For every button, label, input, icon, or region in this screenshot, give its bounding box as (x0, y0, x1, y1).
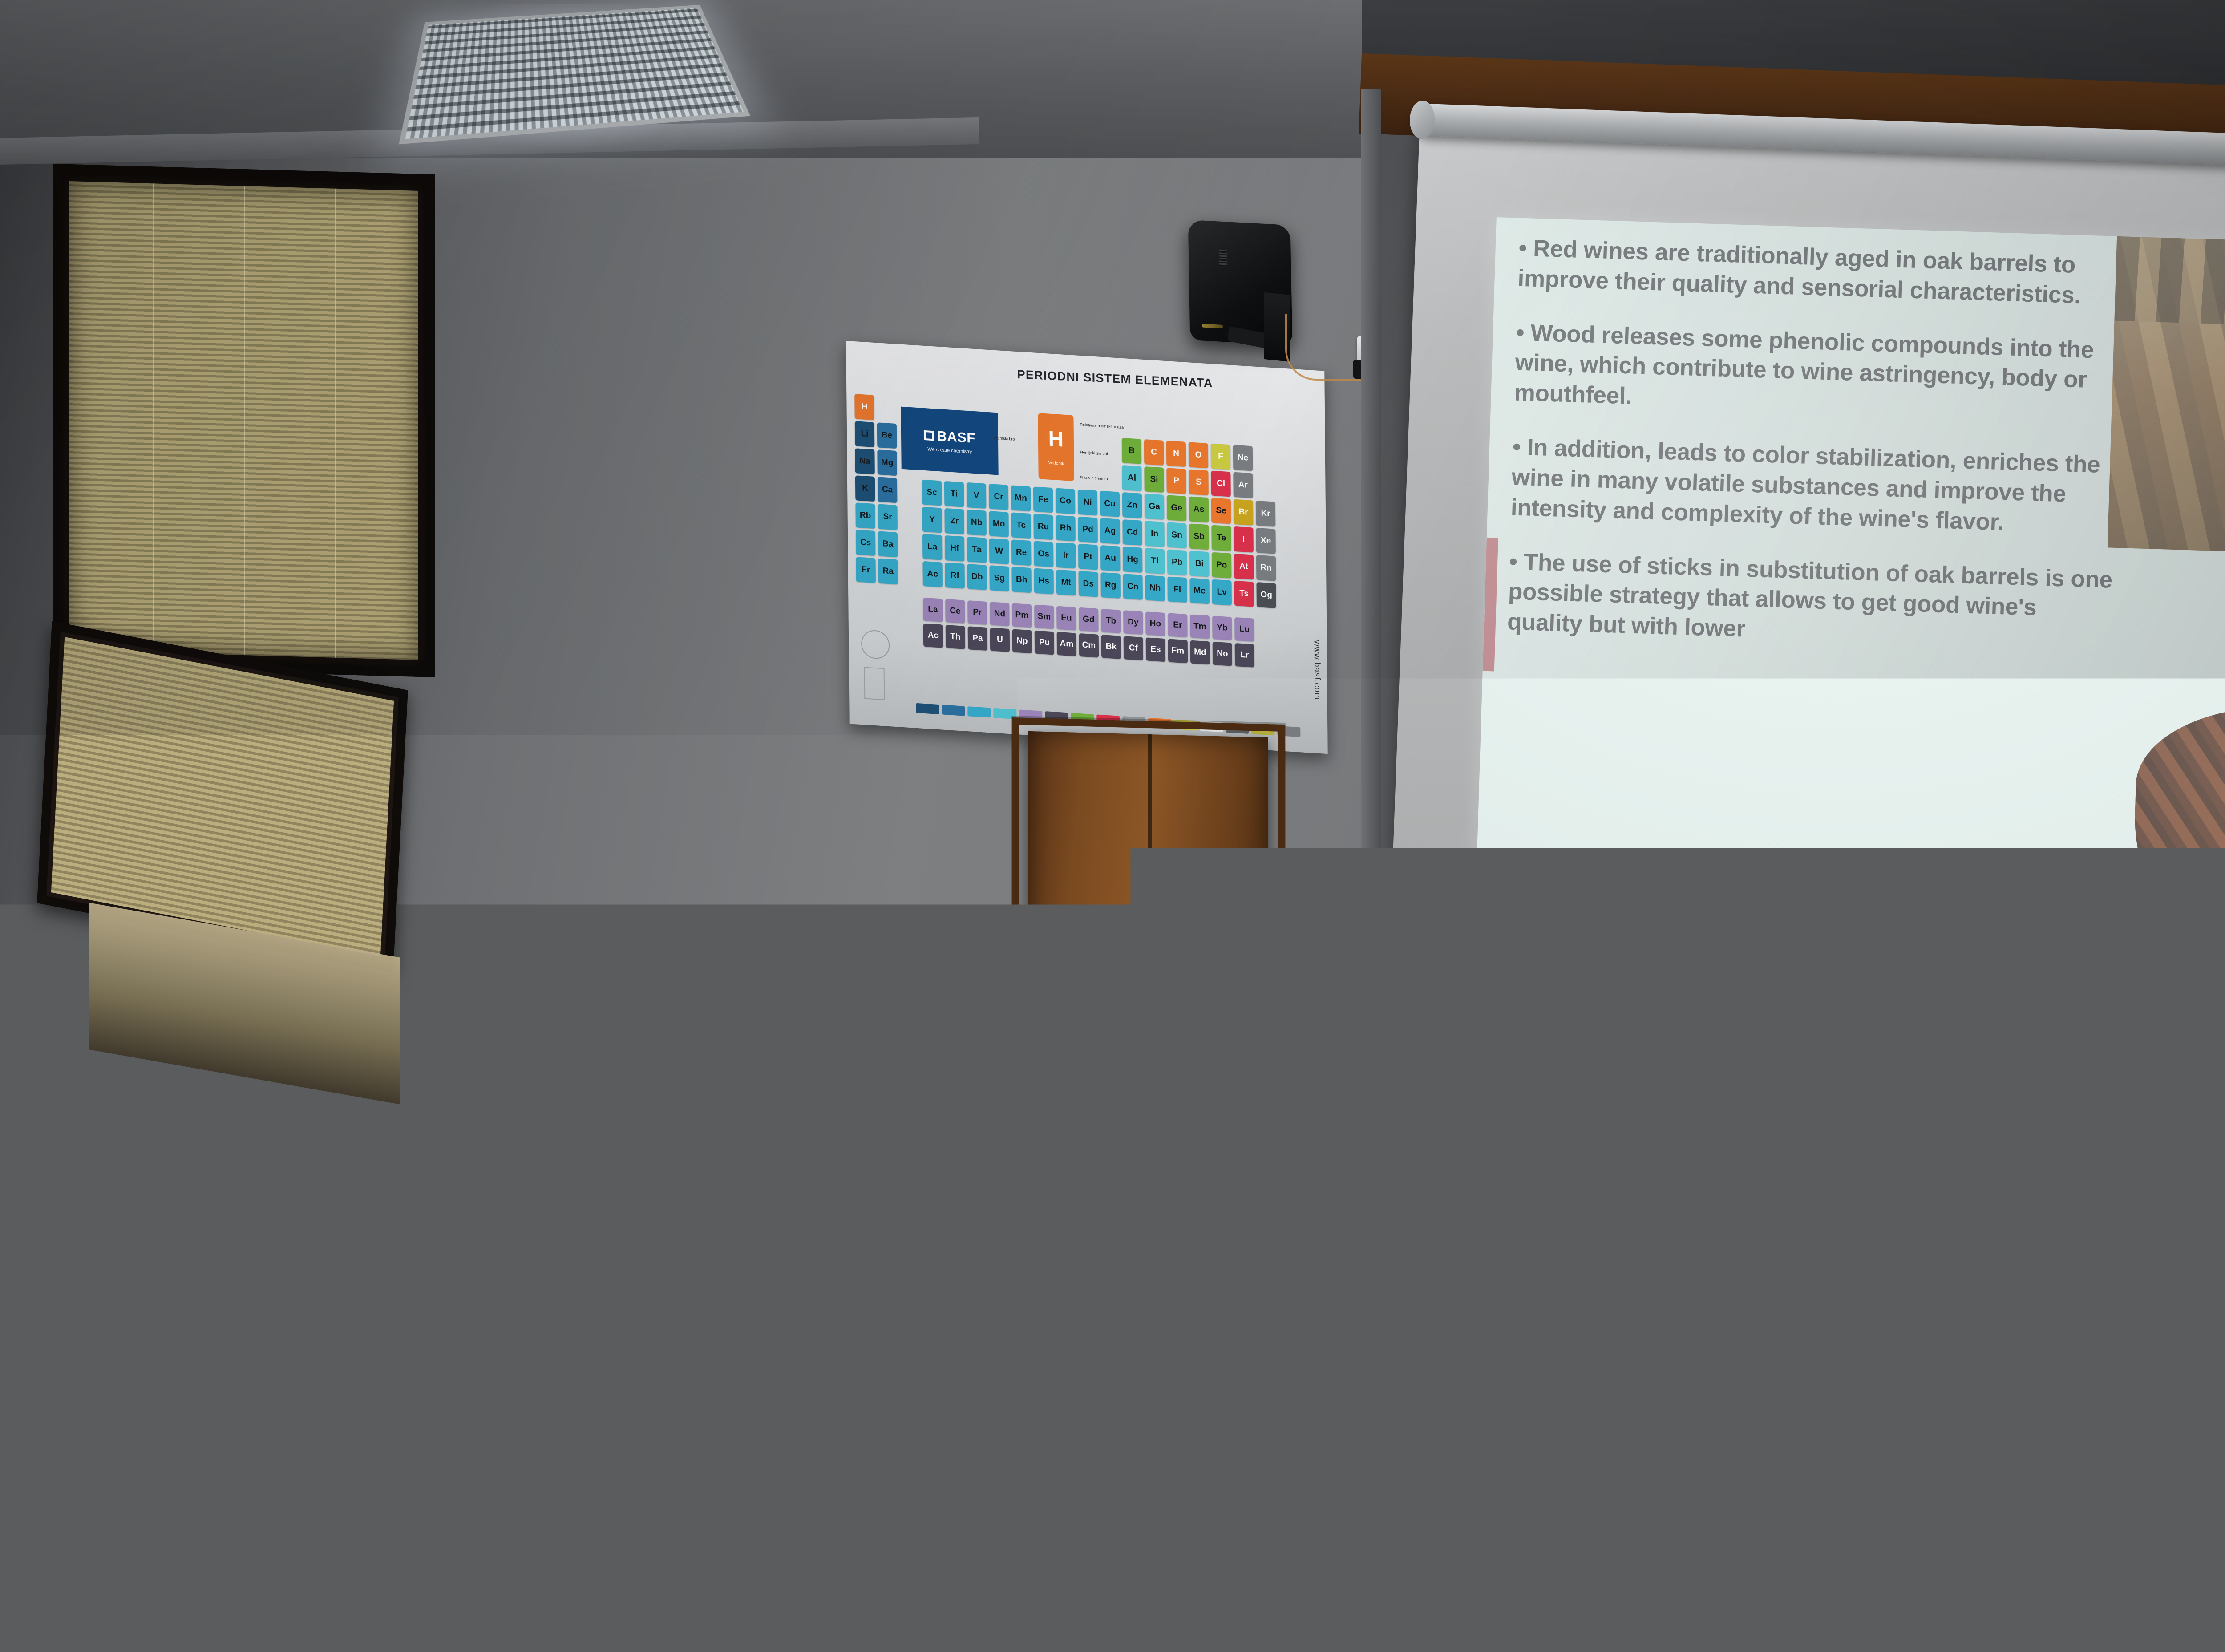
element-cell: U (990, 628, 1010, 652)
element-cell: Po (1212, 552, 1231, 579)
element-cell: Bh (1011, 567, 1031, 593)
element-cell: Es (1146, 638, 1165, 662)
bench-top (0, 1289, 529, 1652)
element-cell: Ac (922, 561, 942, 587)
element-cell: Sc (922, 480, 942, 506)
smoke-detector-icon (1366, 1024, 1387, 1037)
element-cell: Am (1057, 632, 1076, 656)
element-cell: Ga (1145, 494, 1164, 520)
element-cell: Pt (1078, 544, 1098, 570)
presenter-eye-left (613, 944, 623, 949)
element-cell: Sg (989, 565, 1009, 591)
element-cell: Cl (1211, 471, 1230, 497)
element-cell: Mn (1011, 485, 1031, 511)
element-cell: Zr (944, 508, 964, 534)
slide-bullet-list: • Red wines are traditionally aged in oa… (1506, 233, 2124, 680)
element-cell: Er (1168, 613, 1187, 638)
element-cell: Sm (1034, 605, 1054, 629)
element-cell: Hs (1034, 568, 1053, 595)
element-cell: Zn (1122, 492, 1142, 518)
conference-badge (606, 1170, 666, 1246)
plastic-cup[interactable] (2100, 1571, 2139, 1652)
presenter-leg-split (632, 1406, 637, 1607)
element-cell: Mc (1189, 578, 1209, 604)
element-cell: O (1189, 442, 1208, 468)
presentation-slide: • Red wines are traditionally aged in oa… (1474, 217, 2225, 976)
lecture-hall-scene: PERIODNI SISTEM ELEMENATA BASF We create… (0, 0, 2225, 1652)
plastic-cup[interactable] (2168, 1571, 2206, 1652)
element-cell: Mg (877, 449, 897, 476)
element-cell: Rg (1100, 572, 1120, 599)
presenter-shoe-left (553, 1590, 635, 1636)
badge-logo-mark (626, 1190, 649, 1203)
logo-chem-text: chem (1502, 919, 1546, 934)
eurofoodchem-logo: XXII euro F D chem (1490, 881, 1559, 940)
element-cell: Ce (945, 599, 965, 624)
element-cell: Te (1211, 525, 1231, 551)
logo-euro-text: euro (1509, 892, 1542, 908)
presenter (498, 903, 765, 1652)
conference-caption: XXII Congress, European Food Chemistry B… (1564, 908, 1739, 935)
element-cell: Ne (1233, 445, 1253, 471)
element-cell: Og (1256, 582, 1276, 608)
element-cell: Fm (1168, 639, 1188, 664)
presenter-shoe-right (630, 1576, 716, 1622)
placard-name: Jelena Mutić (1645, 1451, 1721, 1477)
poster-url: www.basf.com (1312, 640, 1322, 700)
element-cell: Kr (1256, 501, 1275, 527)
element-cell: Mt (1056, 570, 1076, 596)
element-cell: Ni (1078, 490, 1097, 516)
element-cell: Sr (878, 504, 897, 530)
element-cell: Pb (1167, 549, 1187, 575)
element-cell: Tc (1011, 512, 1031, 539)
badge-apple-icon (610, 1174, 635, 1192)
element-cell: Ra (878, 558, 898, 584)
logo-food-text: F D (1514, 908, 1535, 920)
element-cell: W (989, 538, 1009, 564)
element-cell: Ir (1056, 543, 1076, 569)
element-cell: Cm (1079, 633, 1099, 658)
element-cell: Se (1211, 498, 1231, 524)
light-louver-grid (405, 8, 744, 139)
element-cell: Pu (1035, 631, 1054, 655)
element-cell: Yb (1212, 616, 1232, 640)
element-cell: Lu (1234, 617, 1254, 642)
element-cell: F (1211, 444, 1230, 470)
element-cell: Ts (1234, 581, 1254, 607)
element-cell: Np (1012, 629, 1032, 654)
periodic-table-poster: PERIODNI SISTEM ELEMENATA BASF We create… (846, 341, 1327, 754)
presenter-eye-right (645, 944, 655, 949)
element-cell: Co (1056, 488, 1075, 514)
element-cell: Nd (990, 602, 1009, 627)
lecture-bench-left (0, 1211, 507, 1652)
chalkboard-sponge[interactable] (1393, 1142, 1417, 1192)
name-placard: Zuzana Ciesarova (1354, 1365, 1543, 1417)
element-cell: Ag (1100, 518, 1120, 544)
presenter-trousers (562, 1330, 716, 1606)
periodic-table-grid: HLiBeBCNOFNeNaMgAlSiPSClArKCaScTiVCrMnFe… (846, 390, 1327, 687)
element-cell: H (854, 394, 874, 420)
badge-bottom-bar (616, 1235, 658, 1241)
element-cell: Ar (1233, 472, 1253, 498)
element-cell: Dy (1123, 610, 1143, 635)
window-upper (53, 164, 435, 677)
element-cell: Ti (944, 481, 964, 507)
element-cell: Tb (1101, 609, 1121, 633)
element-cell: Th (946, 625, 965, 649)
element-cell: P (1166, 468, 1186, 494)
slide-bullet: • Wood releases some phenolic compounds … (1514, 317, 2122, 426)
element-cell: Hg (1123, 547, 1142, 573)
slide-bullet: • Red wines are traditionally aged in oa… (1517, 233, 2124, 312)
element-cell: Li (855, 421, 874, 447)
element-cell: Al (1122, 465, 1141, 491)
element-cell: Ta (967, 537, 987, 563)
name-placard: Jelena Mutić (1586, 1423, 1779, 1479)
element-cell: Fe (1033, 486, 1053, 513)
element-cell: Db (967, 564, 987, 590)
element-cell: Bk (1101, 635, 1121, 659)
element-cell: I (1234, 526, 1253, 553)
element-cell: At (1234, 554, 1254, 580)
speaker-vent (1219, 250, 1227, 266)
element-cell: Ho (1145, 612, 1165, 636)
element-cell: K (855, 475, 875, 502)
element-cell: Cr (989, 484, 1008, 510)
element-cell: Xe (1256, 528, 1275, 554)
element-cell: Pa (968, 626, 987, 651)
element-cell: Sb (1189, 523, 1209, 550)
element-cell: Lv (1212, 579, 1231, 606)
element-cell: Ac (923, 624, 943, 648)
element-cell: Pd (1078, 517, 1097, 543)
element-cell: Cs (856, 530, 875, 556)
chalk-tray-cup (1389, 1186, 1419, 1203)
element-cell: Ds (1078, 571, 1098, 597)
presenter-hair (593, 906, 677, 956)
slide-bullet: • In addition, leads to color stabilizat… (1510, 432, 2118, 541)
oak-barrels-photo (2108, 236, 2225, 558)
element-cell: Ru (1033, 514, 1053, 540)
element-cell: As (1189, 496, 1209, 522)
element-cell: Re (1011, 539, 1031, 566)
slide-accent-bar (1483, 538, 1498, 672)
element-cell: Cn (1123, 574, 1142, 600)
placard-name: Zuzana Ciesarova (1400, 1391, 1497, 1416)
element-cell: Nh (1145, 575, 1165, 601)
element-cell: Ge (1167, 495, 1186, 521)
element-cell: Cf (1124, 636, 1143, 661)
element-cell: La (922, 534, 942, 560)
element-cell: Eu (1056, 606, 1076, 631)
element-cell: Mo (989, 511, 1008, 537)
element-cell: Si (1144, 466, 1164, 493)
element-cell: Cu (1100, 491, 1120, 517)
element-cell: Br (1234, 499, 1253, 526)
oak-chips-photo (2130, 702, 2225, 976)
element-cell: Rn (1256, 555, 1276, 581)
presentation-clicker[interactable] (565, 1255, 587, 1279)
badge-text-line (612, 1219, 655, 1222)
element-cell: Pm (1012, 603, 1032, 628)
badge-text-line (612, 1212, 660, 1215)
element-cell: Md (1190, 640, 1210, 665)
poster-seal-secondary-icon (864, 667, 885, 700)
element-cell: C (1144, 439, 1164, 466)
badge-text-line (612, 1227, 662, 1230)
wall-pillar (1361, 89, 1381, 1046)
element-cell: La (923, 598, 943, 622)
element-cell: Na (855, 448, 874, 474)
element-cell: Nb (967, 510, 986, 536)
element-cell: Tl (1145, 548, 1165, 574)
plastic-cup[interactable] (2066, 1545, 2104, 1630)
speaker-brand-badge (1202, 324, 1223, 328)
element-cell: Rh (1056, 515, 1075, 542)
poster-title: PERIODNI SISTEM ELEMENATA (1017, 368, 1213, 390)
element-cell: Os (1034, 541, 1053, 567)
element-cell: Sn (1167, 522, 1186, 548)
element-cell: Pr (967, 600, 987, 625)
element-cell: Be (877, 422, 897, 449)
element-cell: Au (1100, 545, 1120, 571)
element-cell: Y (922, 507, 942, 533)
element-cell: Ba (878, 531, 898, 557)
window-blinds[interactable] (69, 181, 418, 660)
element-cell: Gd (1079, 607, 1098, 632)
element-cell: Cd (1122, 519, 1142, 546)
element-cell: Lr (1235, 643, 1254, 668)
element-cell: In (1145, 521, 1164, 547)
element-cell: V (967, 482, 986, 509)
slide-bullet: • The use of sticks in substitution of o… (1507, 547, 2115, 656)
cup-stack (2038, 1504, 2225, 1652)
element-cell: No (1213, 642, 1232, 666)
element-cell: Ca (878, 477, 897, 503)
element-cell: S (1189, 469, 1208, 495)
element-cell: Rf (945, 563, 964, 589)
element-cell: Bi (1189, 551, 1209, 577)
projection-screen: • Red wines are traditionally aged in oa… (1388, 129, 2225, 1013)
blackboard[interactable] (1415, 1014, 2225, 1300)
element-cell: Hf (945, 535, 964, 562)
element-cell: Rb (855, 502, 875, 529)
element-cell: N (1166, 441, 1186, 467)
element-cell: Fr (856, 557, 875, 583)
element-cell: Tm (1190, 615, 1210, 639)
element-cell: B (1122, 438, 1141, 464)
element-cell: Fl (1167, 576, 1187, 603)
